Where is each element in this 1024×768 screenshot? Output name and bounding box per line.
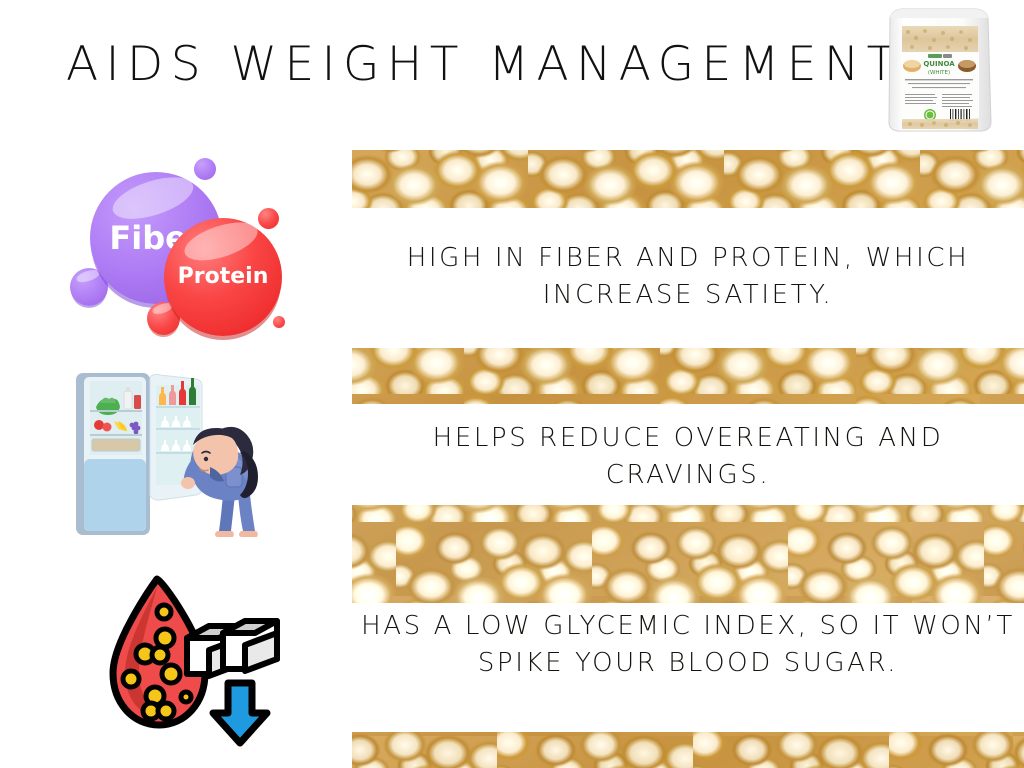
svg-text:QUINOA: QUINOA xyxy=(923,60,955,68)
blood-drop-sugar-cubes-icon xyxy=(95,575,295,755)
quinoa-photo-band xyxy=(352,505,1024,603)
quinoa-pouch-icon: QUINOA (WHITE) xyxy=(872,2,1012,138)
quinoa-photo-band xyxy=(352,348,1024,404)
svg-text:(WHITE): (WHITE) xyxy=(928,70,950,76)
benefit-text-satiety: HIGH IN FIBER AND PROTEIN, WHICH INCREAS… xyxy=(352,240,1024,314)
quinoa-grain-texture xyxy=(352,732,1024,768)
benefit-text-glycemic: HAS A LOW GLYCEMIC INDEX, SO IT WON’T SP… xyxy=(352,608,1024,682)
bubble-protein-label: Protein xyxy=(164,264,282,289)
bubble-purple-small-top xyxy=(194,158,216,180)
infographic-canvas: AIDS WEIGHT MANAGEMENT xyxy=(0,0,1024,768)
page-title: AIDS WEIGHT MANAGEMENT xyxy=(66,40,903,89)
quinoa-grain-texture xyxy=(352,505,1024,603)
fiber-protein-bubbles-icon: Fiber Protein xyxy=(60,150,330,360)
bubble-protein: Protein xyxy=(164,218,282,336)
quinoa-grain-texture xyxy=(352,150,1024,208)
bubble-red-small-right xyxy=(258,208,279,229)
product-package-image: QUINOA (WHITE) xyxy=(872,2,1012,138)
quinoa-photo-band xyxy=(352,732,1024,768)
woman-at-open-refrigerator-icon xyxy=(60,355,280,555)
benefit-text-cravings: HELPS REDUCE OVEREATING AND CRAVINGS. xyxy=(352,420,1024,494)
bubble-red-dot xyxy=(273,316,285,328)
quinoa-photo-band xyxy=(352,150,1024,208)
quinoa-grain-texture xyxy=(352,348,1024,404)
